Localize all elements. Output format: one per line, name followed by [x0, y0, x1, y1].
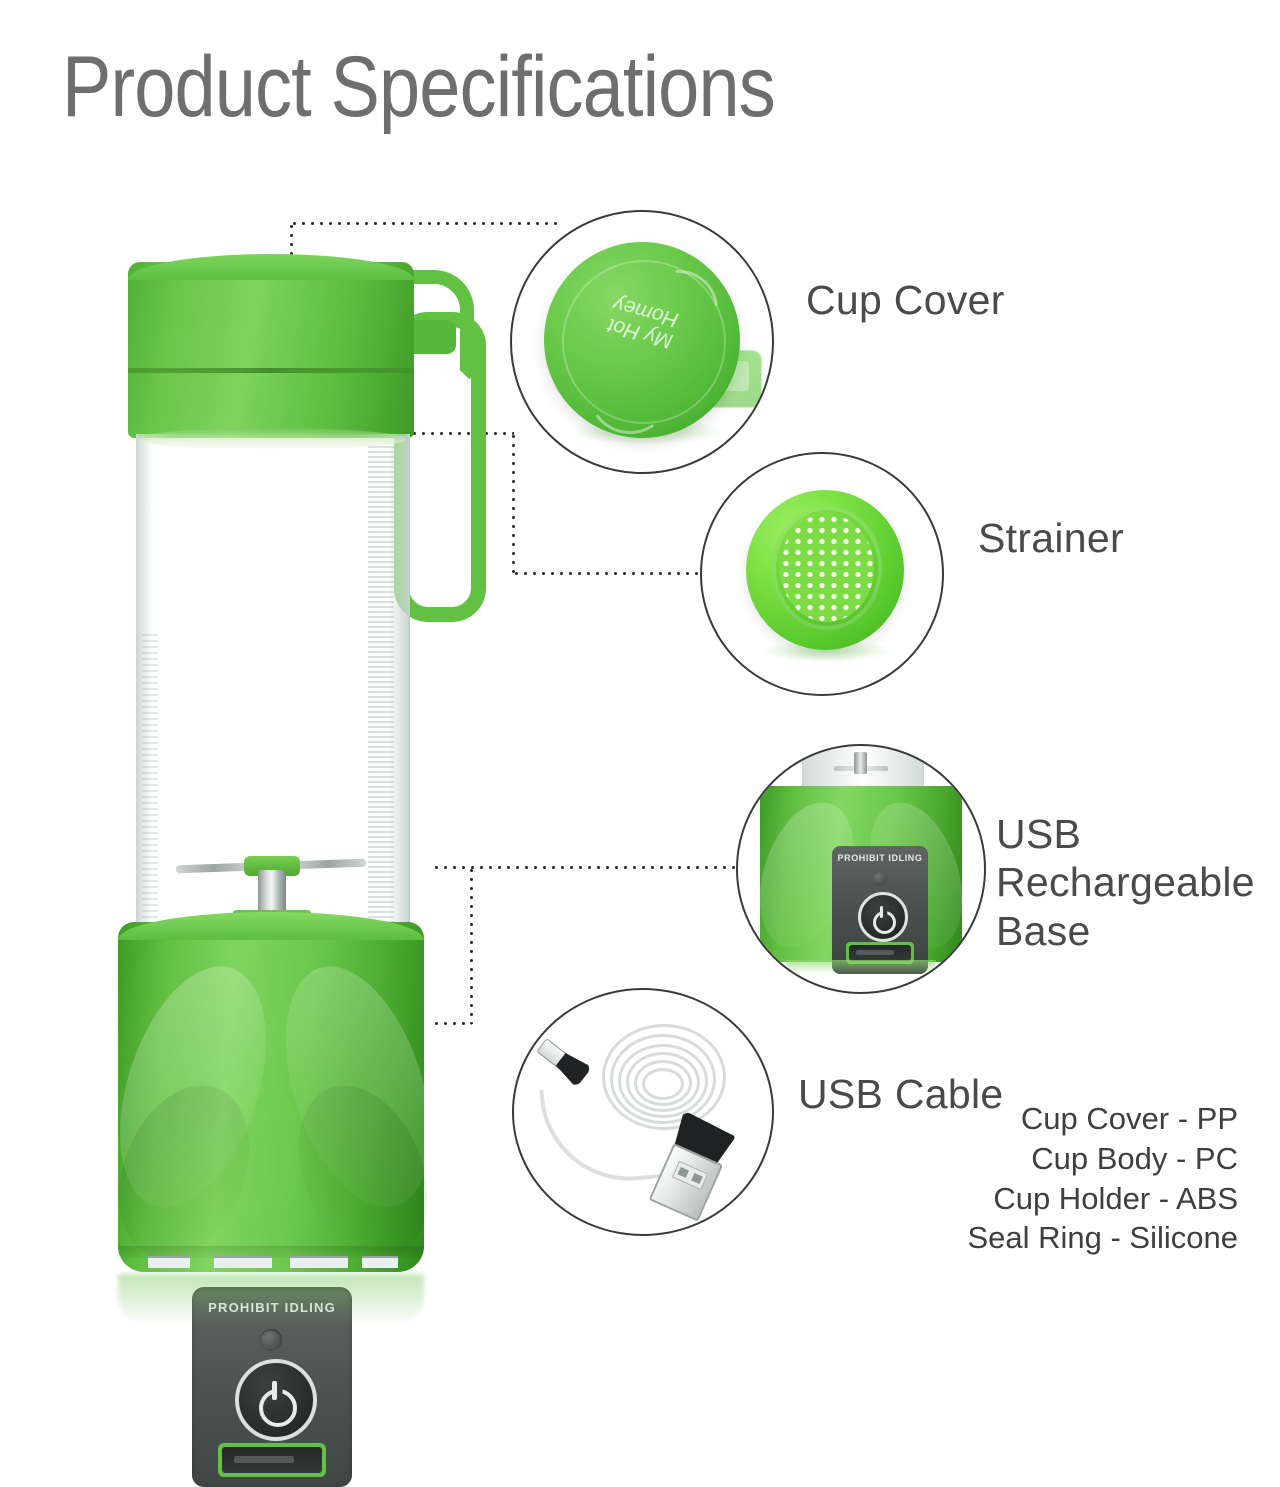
leader-segment [432, 1022, 472, 1025]
materials-list: Cup Cover - PP Cup Body - PC Cup Holder … [967, 1099, 1238, 1258]
base-foot [214, 1256, 272, 1268]
callout-label-strainer: Strainer [978, 514, 1124, 562]
callout-control-panel: PROHIBIT IDLING [832, 846, 928, 974]
lid-seam [128, 368, 414, 373]
material-item: Cup Body - PC [967, 1139, 1238, 1179]
cup-lid [128, 262, 414, 438]
lid-top-surface [128, 254, 414, 280]
usb-port-opening [849, 945, 911, 961]
strainer-body [746, 490, 904, 650]
power-button[interactable] [235, 1359, 317, 1441]
infographic-canvas: Product Specifications [0, 0, 1280, 1280]
leader-segment [512, 432, 515, 574]
cup-cover-disc: My Hot Homey [544, 242, 740, 438]
usb-port-opening [222, 1447, 322, 1473]
callout-strainer [700, 452, 944, 696]
strainer-lip [772, 506, 882, 630]
power-icon [259, 1383, 293, 1417]
usb-charging-port[interactable] [218, 1443, 326, 1477]
leader-segment [470, 866, 473, 1024]
glass-rim [136, 428, 406, 450]
callout-motor-base: PROHIBIT IDLING [760, 786, 962, 962]
motor-base: PROHIBIT IDLING [118, 922, 424, 1272]
product-reflection [118, 1274, 424, 1326]
leader-segment [512, 572, 702, 575]
base-foot [290, 1256, 348, 1268]
glass-texture [368, 446, 394, 926]
callout-label-cup-cover: Cup Cover [806, 276, 1005, 324]
power-icon [873, 907, 893, 927]
callout-label-usb-base: USB Rechargeable Base [996, 810, 1255, 955]
blade-shaft [854, 752, 867, 774]
glass-texture [142, 634, 158, 924]
base-foot [148, 1256, 190, 1268]
power-button[interactable] [858, 892, 908, 942]
prohibit-idling-label: PROHIBIT IDLING [832, 853, 928, 863]
callout-usb-rechargeable-base: PROHIBIT IDLING [736, 744, 986, 994]
callout-blade-assembly [834, 752, 888, 782]
material-item: Seal Ring - Silicone [967, 1218, 1238, 1258]
callout-base-foot [786, 960, 936, 974]
status-led-icon [873, 872, 887, 886]
micro-usb-connector [534, 1034, 593, 1088]
status-led-icon [260, 1329, 282, 1351]
leader-segment [290, 222, 558, 225]
strainer-mesh [780, 514, 874, 622]
callout-usb-cable [512, 988, 774, 1236]
leader-segment [432, 866, 740, 869]
base-foot [362, 1256, 398, 1268]
page-title: Product Specifications [62, 44, 775, 130]
material-item: Cup Holder - ABS [967, 1179, 1238, 1219]
blender-product-image: PROHIBIT IDLING [118, 262, 424, 1272]
callout-cup-cover: My Hot Homey [510, 210, 774, 474]
material-item: Cup Cover - PP [967, 1099, 1238, 1139]
